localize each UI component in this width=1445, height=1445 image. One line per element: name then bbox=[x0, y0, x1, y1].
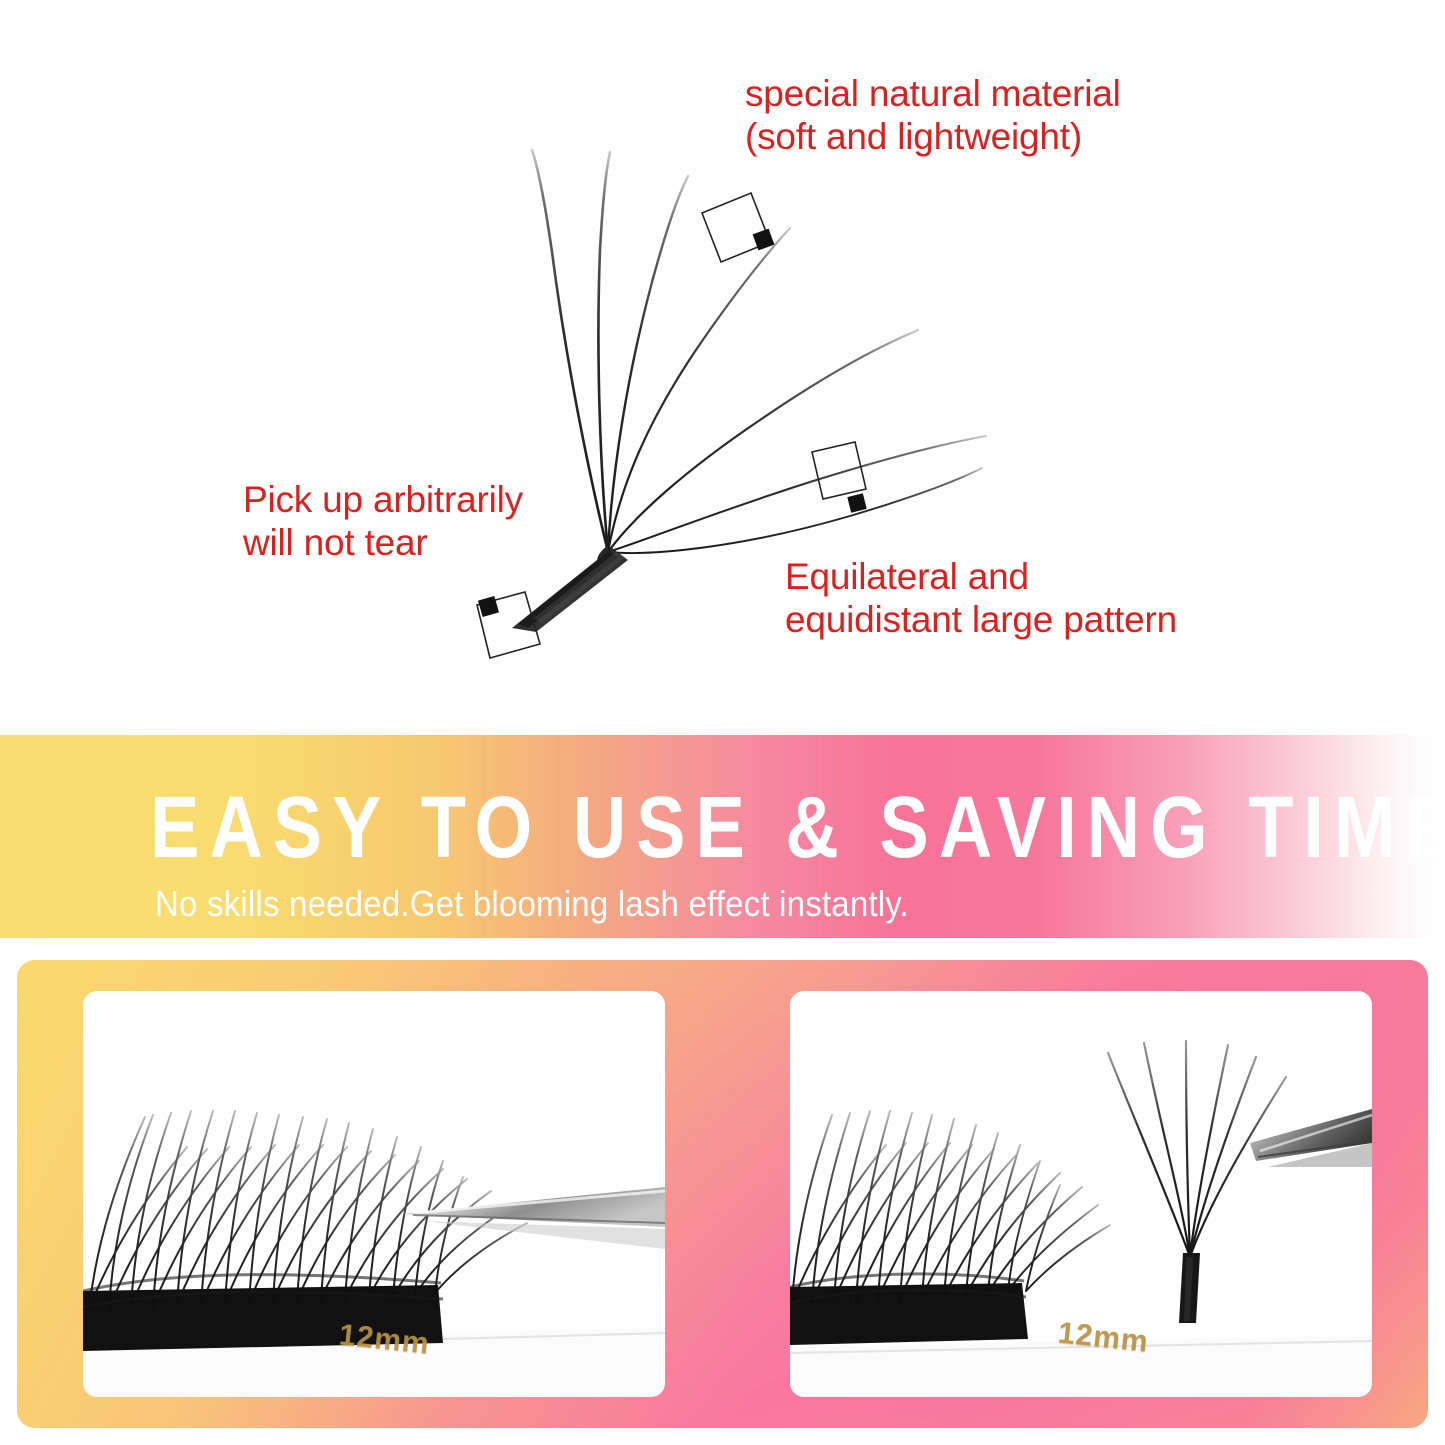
callout-marker-middle bbox=[812, 442, 867, 513]
callout-equilateral-equidistant: Equilateral and equidistant large patter… bbox=[785, 555, 1177, 642]
product-infographic: special natural material (soft and light… bbox=[0, 0, 1445, 1445]
banner-subheadline: No skills needed.Get blooming lash effec… bbox=[155, 883, 909, 925]
callout-marker-upper bbox=[702, 193, 774, 262]
lash-root-base bbox=[512, 548, 628, 632]
banner-headline: EASY TO USE & SAVING TIME bbox=[150, 777, 1445, 877]
callout-special-natural-material: special natural material (soft and light… bbox=[745, 72, 1121, 159]
photo-card-right: 12mm bbox=[790, 991, 1372, 1397]
marker-dot-middle bbox=[847, 493, 866, 512]
callout-pick-up-arbitrarily: Pick up arbitrarily will not tear bbox=[243, 478, 523, 565]
photo-card-left: 12mm bbox=[83, 991, 665, 1397]
hero-section: special natural material (soft and light… bbox=[0, 0, 1445, 735]
lash-strand-group bbox=[532, 150, 986, 553]
photo-panel: 12mm bbox=[17, 960, 1428, 1428]
tagline-banner: EASY TO USE & SAVING TIME No skills need… bbox=[0, 735, 1445, 938]
lash-fan-diagram bbox=[0, 0, 1445, 735]
